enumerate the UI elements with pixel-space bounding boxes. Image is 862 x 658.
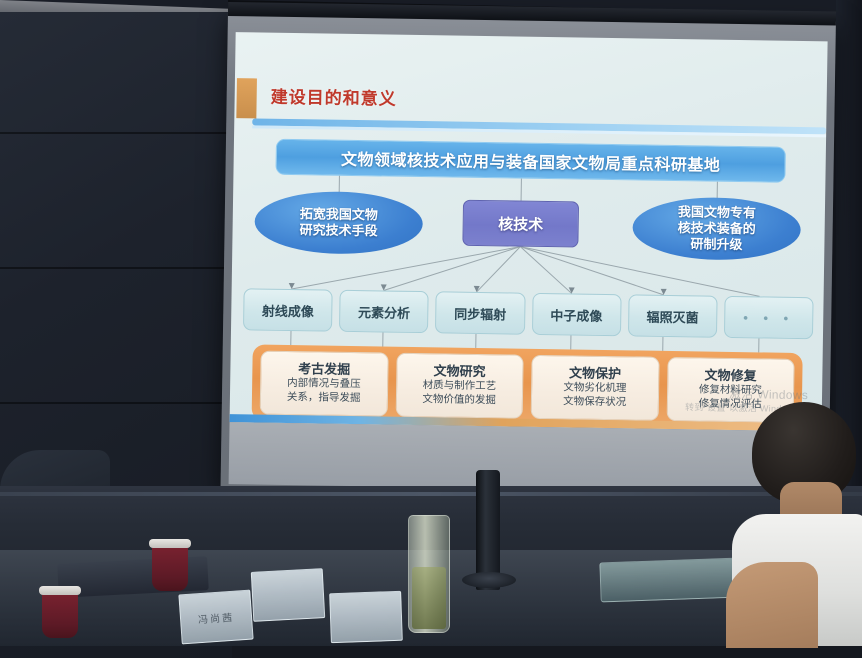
application-desc-1: 材质与制作工艺 文物价值的发掘 — [422, 380, 496, 409]
application-desc-1-line2: 文物价值的发掘 — [422, 393, 496, 406]
application-title-3: 文物修复 — [704, 367, 756, 383]
core-technology-node: 核技术 — [462, 200, 579, 248]
goal-right-line2: 核技术装备的 — [678, 220, 756, 237]
microphone-base — [462, 572, 516, 588]
technology-item-0: 射线成像 — [243, 288, 333, 331]
application-title-0: 考古发掘 — [298, 361, 350, 377]
application-desc-2-line1: 文物劣化机理 — [563, 382, 626, 395]
application-title-2: 文物保护 — [569, 365, 621, 381]
application-card-2: 文物保护 文物劣化机理 文物保存状况 — [531, 355, 659, 421]
technology-item-2: 同步辐射 — [435, 291, 525, 334]
application-title-1: 文物研究 — [433, 363, 485, 379]
diagram-root-node: 文物领域核技术应用与装备国家文物局重点科研基地 — [275, 139, 786, 183]
goal-right-line1: 我国文物专有 — [678, 204, 756, 221]
application-desc-0: 内部情况与叠压 关系，指导发掘 — [287, 377, 361, 406]
application-desc-2-line2: 文物保存状况 — [563, 396, 626, 409]
application-desc-0-line2: 关系，指导发掘 — [287, 391, 361, 404]
technology-item-ellipsis: • • • — [724, 296, 814, 339]
application-card-0: 考古发掘 内部情况与叠压 关系，指导发掘 — [260, 351, 388, 417]
goal-right-line3: 研制升级 — [690, 236, 742, 253]
name-placard-2 — [329, 591, 403, 643]
application-desc-1-line1: 材质与制作工艺 — [423, 380, 497, 393]
technology-item-1: 元素分析 — [339, 290, 429, 333]
goal-node-left: 拓宽我国文物 研究技术手段 — [254, 190, 423, 255]
technology-row: 射线成像 元素分析 同步辐射 中子成像 辐照灭菌 • • • — [243, 288, 814, 339]
technology-item-3: 中子成像 — [531, 293, 621, 336]
diagram-tier2: 拓宽我国文物 研究技术手段 核技术 我国文物专有 核技术装备的 研制升级 — [232, 190, 825, 269]
application-desc-2: 文物劣化机理 文物保存状况 — [563, 382, 626, 411]
presentation-slide: 建设目的和意义 文物领域核技术应用与装备国家文物局重点科研基地 — [230, 32, 828, 431]
application-desc-0-line1: 内部情况与叠压 — [287, 377, 361, 390]
goal-left-line1: 拓宽我国文物 — [300, 206, 378, 223]
paper-cup-left — [42, 592, 78, 638]
name-placard-1 — [251, 568, 326, 622]
notebook — [599, 558, 740, 603]
goal-node-right: 我国文物专有 核技术装备的 研制升级 — [632, 196, 801, 261]
name-placard-0: 冯尚茜 — [178, 590, 253, 645]
glass-tea-tumbler — [408, 515, 450, 633]
attendee-arm — [726, 562, 818, 648]
conference-room: 建设目的和意义 文物领域核技术应用与装备国家文物局重点科研基地 — [0, 0, 862, 646]
technology-item-4: 辐照灭菌 — [628, 294, 718, 337]
slide-title: 建设目的和意义 — [271, 83, 397, 110]
tea-leaves — [412, 567, 446, 629]
paper-cup-right — [152, 545, 188, 591]
title-accent-bar — [236, 78, 257, 118]
goal-left-line2: 研究技术手段 — [299, 222, 377, 239]
seated-attendee — [732, 386, 862, 646]
application-card-1: 文物研究 材质与制作工艺 文物价值的发掘 — [395, 353, 523, 419]
